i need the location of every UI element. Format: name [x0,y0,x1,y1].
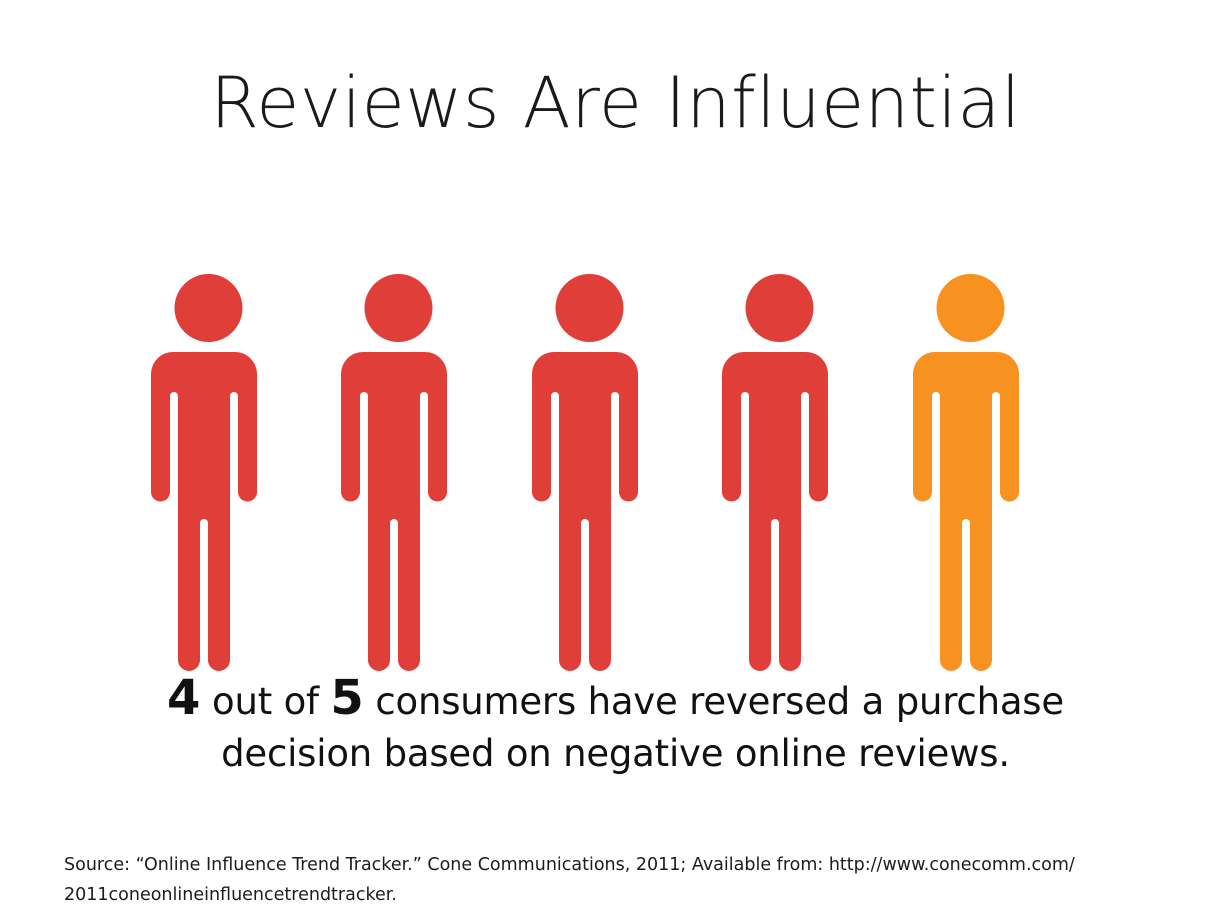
source-line-2: 2011coneonlineinfluencetrendtracker. [64,880,1184,910]
caption: 4 out of 5 consumers have reversed a pur… [0,672,1231,780]
source-line-1: Source: “Online Influence Trend Tracker.… [64,850,1184,880]
infographic-slide: Reviews Are Influential [0,0,1231,924]
person-figure-2 [350,272,502,650]
caption-out-of: out of [200,680,330,723]
caption-text-rest: consumers have reversed a purchase [364,680,1064,723]
caption-line-2: decision based on negative online review… [0,728,1231,780]
person-figure-3 [541,272,693,650]
caption-line-1: 4 out of 5 consumers have reversed a pur… [0,672,1231,728]
caption-numerator: 4 [167,670,200,726]
person-figure-4 [731,272,883,650]
person-figure-5 [922,272,1074,650]
pictogram-chart [160,272,1075,650]
source-citation: Source: “Online Influence Trend Tracker.… [64,850,1184,910]
person-figure-1 [160,272,312,650]
page-title: Reviews Are Influential [0,68,1231,138]
caption-denominator: 5 [330,670,363,726]
